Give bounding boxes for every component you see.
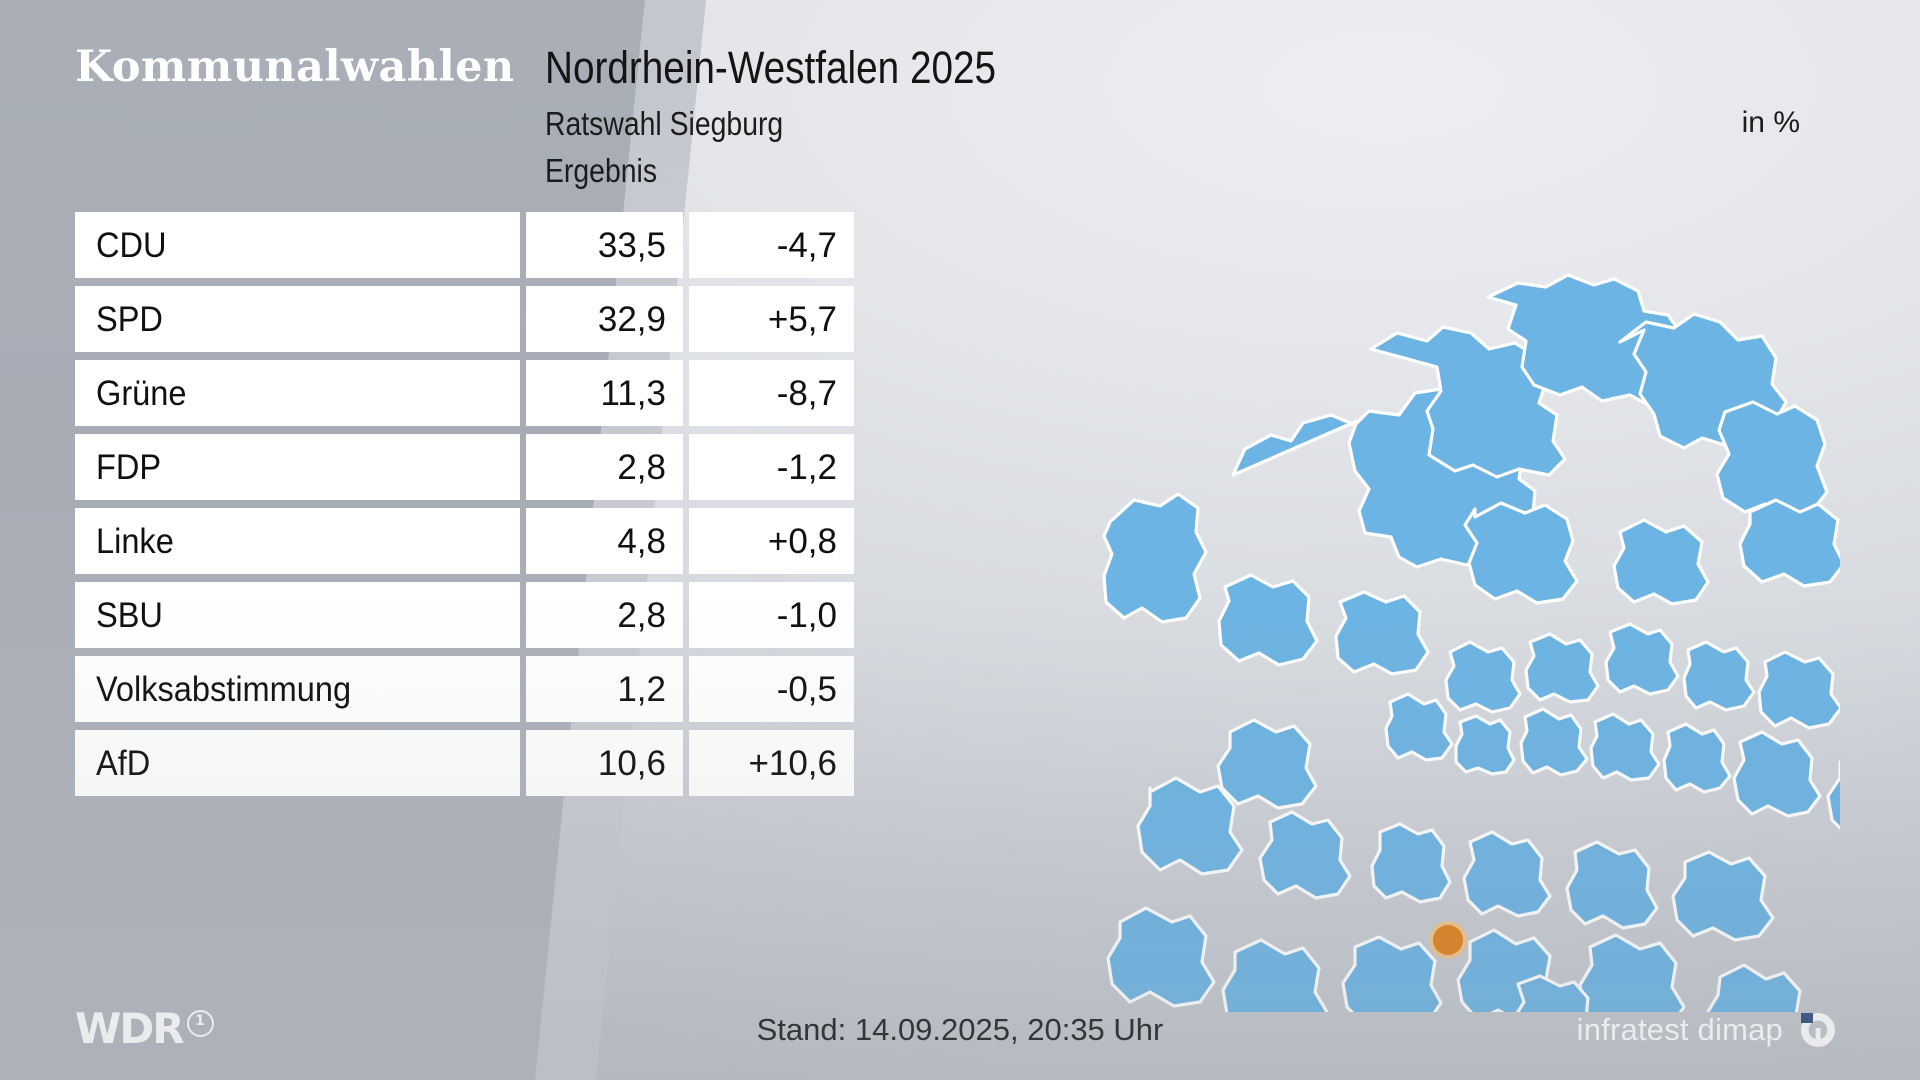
party-name-cell: Volksabstimmung bbox=[75, 656, 520, 722]
party-change-cell: +0,8 bbox=[689, 508, 854, 574]
infographic-root: Kommunalwahlen Nordrhein-Westfalen 2025 … bbox=[0, 0, 1920, 1080]
party-name-cell: AfD bbox=[75, 730, 520, 796]
party-name-cell: FDP bbox=[75, 434, 520, 500]
party-name: Grüne bbox=[96, 376, 186, 411]
party-result-cell: 33,5 bbox=[526, 212, 683, 278]
nrw-map-svg bbox=[1020, 232, 1840, 1012]
nrw-map bbox=[1020, 232, 1840, 1012]
district-shapes bbox=[1104, 264, 1840, 1012]
infratest-dimap-logo: infratest dimap bbox=[1577, 1008, 1840, 1052]
table-row: SPD 32,9 +5,7 bbox=[75, 286, 820, 352]
party-name-cell: Linke bbox=[75, 508, 520, 574]
party-name: CDU bbox=[96, 228, 167, 263]
party-name: Volksabstimmung bbox=[96, 672, 351, 707]
region-title: Nordrhein-Westfalen 2025 bbox=[545, 42, 996, 94]
unit-label: in % bbox=[1620, 106, 1800, 140]
party-result-cell: 2,8 bbox=[526, 582, 683, 648]
party-change-cell: +5,7 bbox=[689, 286, 854, 352]
party-name-cell: SPD bbox=[75, 286, 520, 352]
party-result-cell: 2,8 bbox=[526, 434, 683, 500]
party-name: Linke bbox=[96, 524, 174, 559]
party-change-cell: -0,5 bbox=[689, 656, 854, 722]
party-name: SBU bbox=[96, 598, 163, 633]
map-marker-siegburg bbox=[1429, 921, 1467, 959]
table-row: Linke 4,8 +0,8 bbox=[75, 508, 820, 574]
table-row: CDU 33,5 -4,7 bbox=[75, 212, 820, 278]
party-change-cell: -8,7 bbox=[689, 360, 854, 426]
table-row: AfD 10,6 +10,6 bbox=[75, 730, 820, 796]
infratest-dimap-wordmark: infratest dimap bbox=[1577, 1012, 1783, 1048]
table-row: FDP 2,8 -1,2 bbox=[75, 434, 820, 500]
infratest-dimap-mark-icon bbox=[1796, 1008, 1840, 1052]
party-name: AfD bbox=[96, 746, 150, 781]
dimap-square bbox=[1801, 1013, 1813, 1023]
table-row: Grüne 11,3 -8,7 bbox=[75, 360, 820, 426]
party-result-cell: 4,8 bbox=[526, 508, 683, 574]
results-table: CDU 33,5 -4,7 SPD 32,9 +5,7 Grüne 11,3 -… bbox=[75, 212, 820, 796]
party-result-cell: 1,2 bbox=[526, 656, 683, 722]
party-change-cell: -4,7 bbox=[689, 212, 854, 278]
party-result-cell: 32,9 bbox=[526, 286, 683, 352]
party-result-cell: 11,3 bbox=[526, 360, 683, 426]
result-label: Ergebnis bbox=[545, 152, 657, 190]
party-change-cell: +10,6 bbox=[689, 730, 854, 796]
party-name-cell: CDU bbox=[75, 212, 520, 278]
dimap-stem bbox=[1816, 1028, 1821, 1044]
party-name-cell: Grüne bbox=[75, 360, 520, 426]
election-name: Ratswahl Siegburg bbox=[545, 105, 783, 143]
party-change-cell: -1,2 bbox=[689, 434, 854, 500]
party-name: SPD bbox=[96, 302, 163, 337]
party-name-cell: SBU bbox=[75, 582, 520, 648]
party-name: FDP bbox=[96, 450, 161, 485]
party-result-cell: 10,6 bbox=[526, 730, 683, 796]
marker-dot bbox=[1433, 925, 1463, 955]
table-row: SBU 2,8 -1,0 bbox=[75, 582, 820, 648]
party-change-cell: -1,0 bbox=[689, 582, 854, 648]
table-row: Volksabstimmung 1,2 -0,5 bbox=[75, 656, 820, 722]
programme-title: Kommunalwahlen bbox=[75, 42, 515, 92]
